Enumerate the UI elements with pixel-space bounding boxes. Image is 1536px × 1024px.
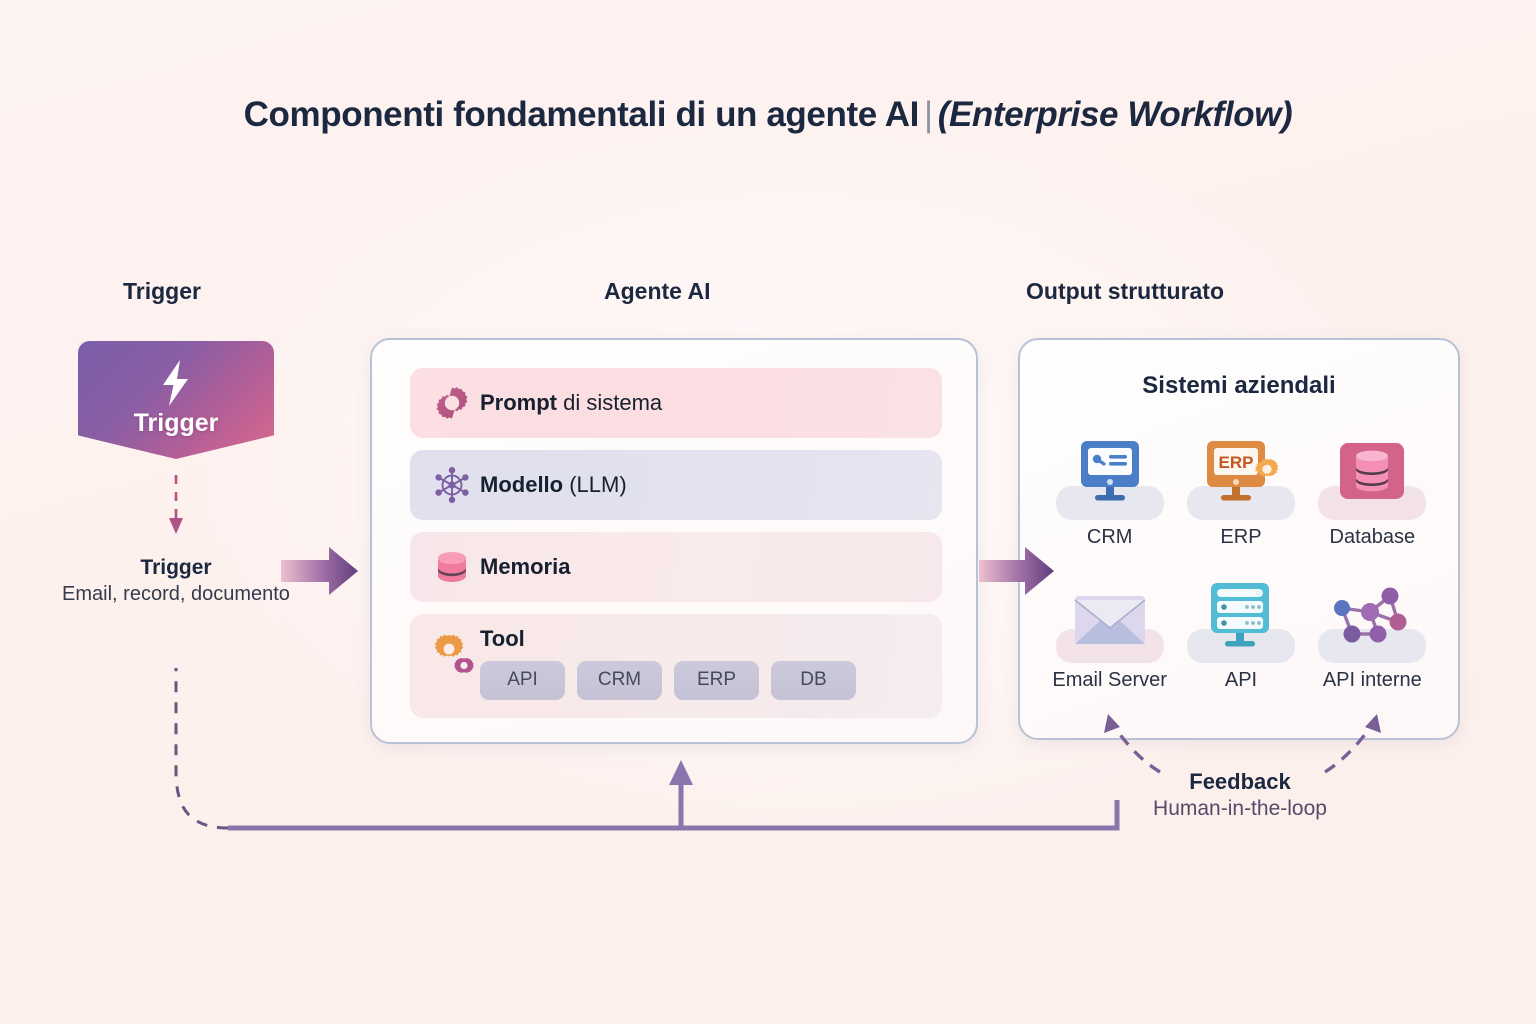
enterprise-systems-grid: CRM ERP: [1044, 420, 1438, 692]
agent-row-prompt-bold: Prompt: [480, 390, 557, 415]
envelope-icon: [1067, 588, 1153, 659]
arrow-trigger-to-agent: [281, 547, 358, 595]
system-cell-api-interne[interactable]: API interne: [1307, 563, 1438, 692]
system-label-email-server: Email Server: [1044, 669, 1175, 692]
trigger-badge-label: Trigger: [78, 409, 274, 438]
page-title-main: Componenti fondamentali di un agente AI: [244, 95, 919, 134]
trigger-caption-title: Trigger: [60, 554, 292, 581]
column-header-trigger: Trigger: [123, 278, 201, 305]
system-label-crm: CRM: [1044, 526, 1175, 549]
page-title: Componenti fondamentali di un agente AI|…: [0, 95, 1536, 135]
agent-row-memoria-label: Memoria: [480, 554, 570, 580]
tool-chip-erp[interactable]: ERP: [674, 661, 759, 700]
system-label-api: API: [1175, 669, 1306, 692]
monitor-erp-icon: ERP: [1197, 437, 1285, 516]
monitor-crm-icon: [1069, 437, 1151, 516]
system-label-database: Database: [1307, 526, 1438, 549]
arrow-badge-to-caption: [169, 475, 183, 534]
agent-row-memoria[interactable]: Memoria: [410, 532, 942, 602]
neural-network-icon: [432, 465, 480, 505]
agent-row-tool-label: Tool: [480, 626, 856, 652]
gears-icon: [432, 632, 480, 678]
output-panel-title: Sistemi aziendali: [1020, 372, 1458, 400]
agent-row-memoria-bold: Memoria: [480, 554, 570, 579]
page-title-subtitle: (Enterprise Workflow): [938, 95, 1293, 134]
database-cylinder-icon: [432, 547, 480, 587]
database-icon: [1332, 439, 1412, 516]
agent-row-prompt-rest: di sistema: [557, 390, 662, 415]
agent-row-tool-bold: Tool: [480, 626, 525, 651]
system-label-erp: ERP: [1175, 526, 1306, 549]
tool-content: Tool API CRM ERP DB: [480, 626, 856, 700]
tool-chip-crm[interactable]: CRM: [577, 661, 662, 700]
gear-icon: [432, 383, 480, 423]
tool-chip-api[interactable]: API: [480, 661, 565, 700]
system-cell-api[interactable]: API: [1175, 563, 1306, 692]
tool-chips: API CRM ERP DB: [480, 661, 856, 700]
agent-row-prompt-label: Prompt di sistema: [480, 390, 662, 416]
agent-row-modello-rest: (LLM): [563, 472, 627, 497]
agent-row-modello-bold: Modello: [480, 472, 563, 497]
system-label-api-interne: API interne: [1307, 669, 1438, 692]
server-api-icon: [1201, 580, 1281, 659]
agent-panel: Prompt di sistema: [370, 338, 978, 744]
feedback-loop-dashed-to-trigger: [176, 668, 228, 828]
agent-row-tool[interactable]: Tool API CRM ERP DB: [410, 614, 942, 718]
system-cell-erp[interactable]: ERP ERP: [1175, 420, 1306, 549]
output-panel: Sistemi aziendali: [1018, 338, 1460, 740]
system-cell-crm[interactable]: CRM: [1044, 420, 1175, 549]
page-title-separator: |: [919, 95, 938, 134]
agent-row-modello-label: Modello (LLM): [480, 472, 627, 498]
svg-text:ERP: ERP: [1219, 453, 1254, 472]
network-nodes-icon: [1328, 584, 1416, 659]
trigger-caption: Trigger Email, record, documento: [60, 554, 292, 607]
system-cell-email-server[interactable]: Email Server: [1044, 563, 1175, 692]
lightning-bolt-icon: [78, 358, 274, 413]
trigger-caption-body: Email, record, documento: [60, 581, 292, 607]
feedback-subtitle: Human-in-the-loop: [1060, 796, 1420, 823]
system-cell-database[interactable]: Database: [1307, 420, 1438, 549]
agent-rows: Prompt di sistema: [410, 368, 942, 730]
agent-row-modello[interactable]: Modello (LLM): [410, 450, 942, 520]
feedback-title: Feedback: [1060, 768, 1420, 796]
trigger-badge[interactable]: Trigger: [78, 341, 274, 459]
column-header-agent: Agente AI: [604, 278, 711, 305]
feedback-caption: Feedback Human-in-the-loop: [1060, 768, 1420, 823]
tool-chip-db[interactable]: DB: [771, 661, 856, 700]
column-header-output: Output strutturato: [1026, 278, 1224, 305]
feedback-loop-line: [228, 760, 1117, 828]
agent-row-prompt[interactable]: Prompt di sistema: [410, 368, 942, 438]
